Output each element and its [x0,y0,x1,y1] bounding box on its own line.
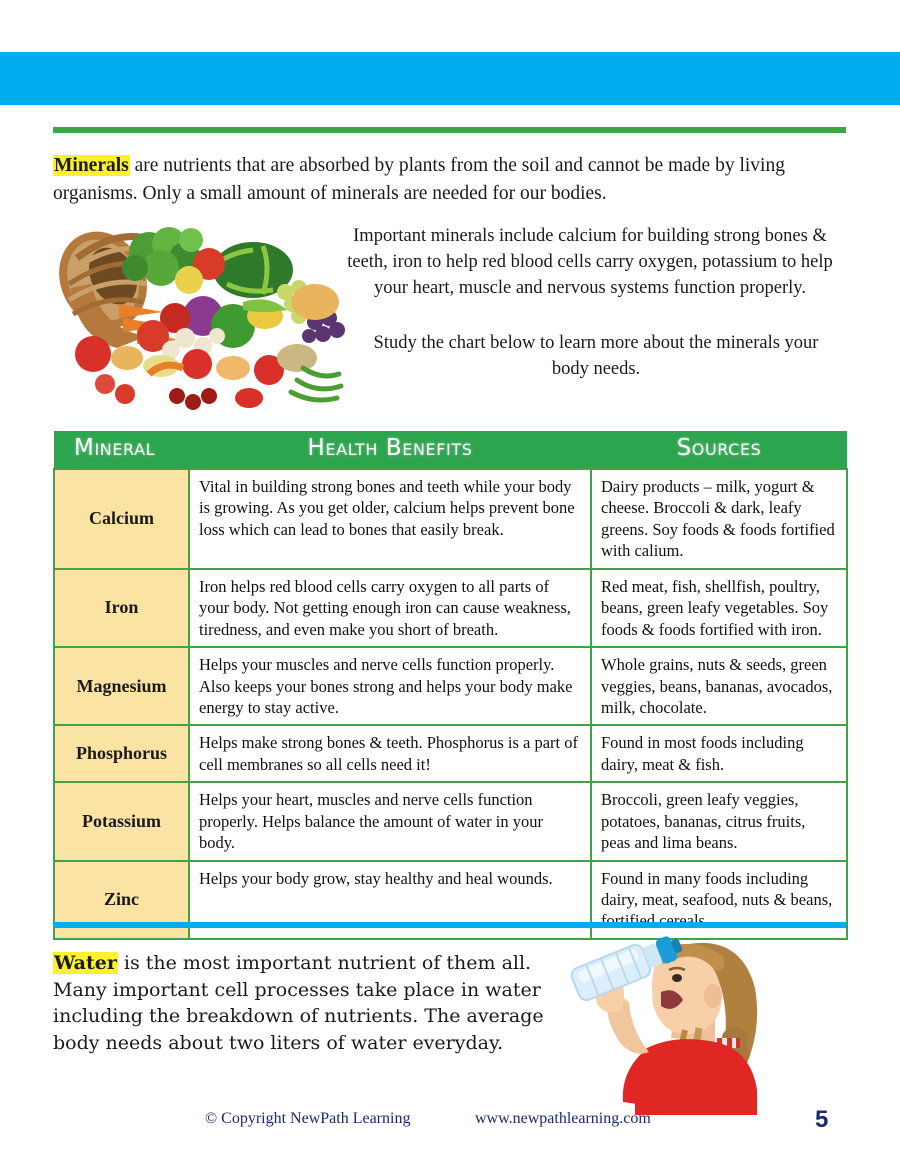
water-keyword: Water [53,952,118,974]
important-minerals-text: Important minerals include calcium for b… [340,224,840,302]
column-header-mineral: Mineral [54,431,189,469]
footer-website-link[interactable]: www.newpathlearning.com [475,1110,651,1128]
cell-health-benefits: Helps make strong bones & teeth. Phospho… [189,725,591,782]
cell-mineral-name: Magnesium [54,647,189,725]
cell-sources: Dairy products – milk, yogurt & cheese. … [591,469,847,569]
girl-drinking-water-image [565,930,785,1115]
cornucopia-illustration [57,218,347,416]
girl-drinking-illustration [565,930,785,1115]
cell-health-benefits: Iron helps red blood cells carry oxygen … [189,569,591,647]
table-header-row: Mineral Health Benefits Sources [54,431,847,469]
cell-sources: Broccoli, green leafy veggies, potatoes,… [591,782,847,860]
section-divider-blue [53,922,846,928]
water-body: is the most important nutrient of them a… [53,952,544,1054]
cornucopia-image [57,218,347,416]
table-row: Calcium Vital in building strong bones a… [54,469,847,569]
column-header-health-benefits: Health Benefits [189,431,591,469]
minerals-table: Mineral Health Benefits Sources Calcium … [53,431,848,940]
footer-copyright: © Copyright NewPath Learning [205,1110,410,1128]
top-banner [0,52,900,105]
section-divider-green [53,127,846,133]
minerals-keyword: Minerals [53,155,130,176]
intro-paragraph: Minerals are nutrients that are absorbed… [53,152,843,208]
table-row: Phosphorus Helps make strong bones & tee… [54,725,847,782]
column-header-sources: Sources [591,431,847,469]
cell-mineral-name: Calcium [54,469,189,569]
cell-health-benefits: Helps your muscles and nerve cells funct… [189,647,591,725]
cell-sources: Red meat, fish, shellfish, poultry, bean… [591,569,847,647]
cell-health-benefits: Helps your heart, muscles and nerve cell… [189,782,591,860]
page-number: 5 [815,1106,828,1134]
cell-mineral-name: Iron [54,569,189,647]
cell-sources: Whole grains, nuts & seeds, green veggie… [591,647,847,725]
study-chart-text: Study the chart below to learn more abou… [356,331,836,383]
table-body: Calcium Vital in building strong bones a… [54,469,847,939]
table-head: Mineral Health Benefits Sources [54,431,847,469]
cell-sources: Found in most foods including dairy, mea… [591,725,847,782]
cell-mineral-name: Phosphorus [54,725,189,782]
water-paragraph: Water is the most important nutrient of … [53,950,553,1056]
table-row: Potassium Helps your heart, muscles and … [54,782,847,860]
page-footer: © Copyright NewPath Learning www.newpath… [0,1110,900,1140]
cell-mineral-name: Potassium [54,782,189,860]
intro-body: are nutrients that are absorbed by plant… [53,155,785,204]
table-row: Magnesium Helps your muscles and nerve c… [54,647,847,725]
table-row: Iron Iron helps red blood cells carry ox… [54,569,847,647]
cell-health-benefits: Vital in building strong bones and teeth… [189,469,591,569]
